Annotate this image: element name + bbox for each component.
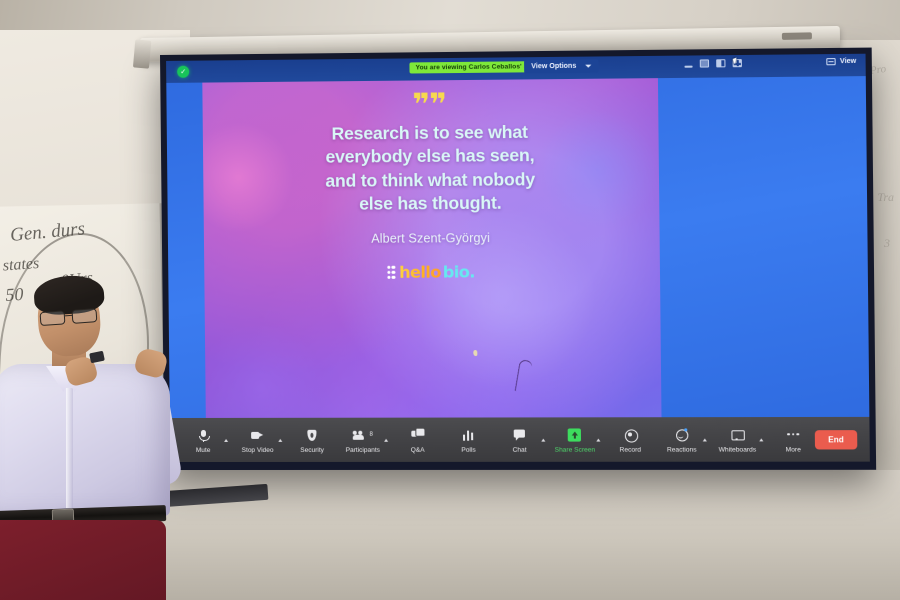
- toolbar-label-security: Security: [300, 446, 324, 453]
- toolbar-button-share-screen[interactable]: Share Screen: [553, 426, 596, 453]
- toolbar-button-participants[interactable]: 8 Participants: [341, 426, 384, 453]
- zoom-meeting-toolbar: Mute Stop Video Security: [170, 417, 870, 462]
- view-options-button[interactable]: View Options: [524, 60, 599, 74]
- microphone-icon: [196, 428, 209, 441]
- presentation-clicker: [89, 351, 105, 364]
- reactions-options-caret-icon[interactable]: [703, 438, 707, 441]
- quote-line: and to think what nobody: [325, 168, 535, 193]
- toolbar-button-reactions[interactable]: Reactions: [660, 426, 703, 453]
- bokeh-blob: [202, 322, 326, 418]
- toolbar-button-stop-video[interactable]: Stop Video: [236, 426, 278, 453]
- shield-check-icon[interactable]: ✓: [177, 66, 189, 78]
- toolbar-label-mute: Mute: [196, 446, 211, 453]
- toolbar-label-stop-video: Stop Video: [242, 446, 274, 453]
- video-camera-icon: [251, 428, 264, 441]
- chevron-down-icon: [585, 65, 591, 68]
- share-screen-icon: [568, 428, 581, 441]
- speaker-view-icon[interactable]: [700, 59, 709, 67]
- view-button[interactable]: View: [826, 58, 856, 65]
- toolbar-button-chat[interactable]: Chat: [498, 426, 541, 453]
- whiteboards-options-caret-icon[interactable]: [759, 438, 763, 441]
- toolbar-label-more: More: [786, 446, 801, 453]
- zoom-meeting-window: ✓ You are viewing Carlos Ceballos' scree…: [166, 54, 870, 462]
- chat-options-caret-icon[interactable]: [541, 438, 545, 441]
- logo-dot-grid-icon: [387, 266, 395, 279]
- bar-chart-icon: [462, 428, 475, 441]
- whiteboard-note-1: states: [2, 255, 40, 276]
- whiteboard-icon: [731, 428, 744, 441]
- toolbar-button-more[interactable]: More: [771, 426, 815, 453]
- participants-count: 8: [369, 432, 372, 438]
- bokeh-blob: [405, 200, 600, 392]
- toolbar-button-whiteboards[interactable]: Whiteboards: [716, 426, 759, 453]
- wall-note-1: Tra: [877, 190, 894, 205]
- toolbar-button-mute[interactable]: Mute: [182, 426, 224, 453]
- toolbar-button-qa[interactable]: Q&A: [396, 426, 439, 453]
- quote-line: else has thought.: [325, 191, 535, 216]
- quote-author: Albert Szent-Györgyi: [371, 231, 490, 246]
- shared-slide: ❞❞ Research is to see what everybody els…: [202, 78, 661, 418]
- share-options-caret-icon[interactable]: [596, 438, 600, 441]
- bokeh-blob: [536, 108, 660, 230]
- toolbar-label-polls: Polls: [461, 446, 475, 453]
- toolbar-label-whiteboards: Whiteboards: [719, 446, 757, 453]
- toolbar-label-record: Record: [620, 446, 642, 453]
- quote-line: Research is to see what: [325, 121, 535, 146]
- presenter-trousers: [0, 520, 166, 600]
- toolbar-button-security[interactable]: Security: [291, 426, 334, 453]
- view-button-label: View: [840, 58, 856, 65]
- shared-content-stage: ❞❞ Research is to see what everybody els…: [166, 76, 869, 418]
- minimize-icon[interactable]: [684, 66, 692, 68]
- presenter-shirt-placket: [66, 388, 73, 508]
- toolbar-button-polls[interactable]: Polls: [447, 426, 490, 453]
- record-icon: [623, 428, 636, 441]
- wall-note-2: 3: [884, 236, 890, 251]
- shield-icon: [305, 428, 318, 441]
- end-meeting-button[interactable]: End: [815, 430, 858, 449]
- toolbar-button-record[interactable]: Record: [609, 426, 652, 453]
- video-options-caret-icon[interactable]: [279, 438, 283, 441]
- toolbar-label-share-screen: Share Screen: [555, 446, 596, 453]
- toolbar-label-reactions: Reactions: [667, 446, 697, 453]
- projection-screen: ✓ You are viewing Carlos Ceballos' scree…: [160, 48, 876, 470]
- bokeh-blob: [202, 122, 294, 233]
- view-layout-icon: [826, 58, 835, 65]
- view-options-label: View Options: [531, 63, 576, 71]
- presenter-person: [0, 276, 184, 600]
- qa-bubbles-icon: [411, 428, 424, 441]
- annotation-dot: [473, 350, 477, 356]
- toolbar-label-participants: Participants: [346, 446, 380, 453]
- ellipsis-icon: [786, 428, 800, 441]
- presenter-shirt: [0, 364, 170, 516]
- room-photograph: Pro Tra 3 Gen. durs states 50 0Urs resul…: [0, 0, 900, 600]
- chat-bubble-icon: [513, 428, 526, 441]
- quote-text: Research is to see what everybody else h…: [311, 121, 550, 216]
- quote-line: everybody else has seen,: [325, 144, 535, 169]
- participants-options-caret-icon[interactable]: [384, 438, 388, 441]
- reactions-icon: [675, 428, 688, 441]
- side-by-side-view-icon[interactable]: [716, 59, 725, 67]
- hellobio-logo: hello bio.: [387, 262, 475, 282]
- logo-text-hello: hello: [399, 263, 441, 282]
- mute-options-caret-icon[interactable]: [224, 438, 228, 441]
- toolbar-label-qa: Q&A: [411, 446, 425, 453]
- logo-text-bio: bio.: [443, 262, 475, 281]
- quote-mark-icon: ❞❞: [412, 94, 446, 115]
- people-icon: [352, 428, 365, 441]
- toolbar-label-chat: Chat: [513, 446, 527, 453]
